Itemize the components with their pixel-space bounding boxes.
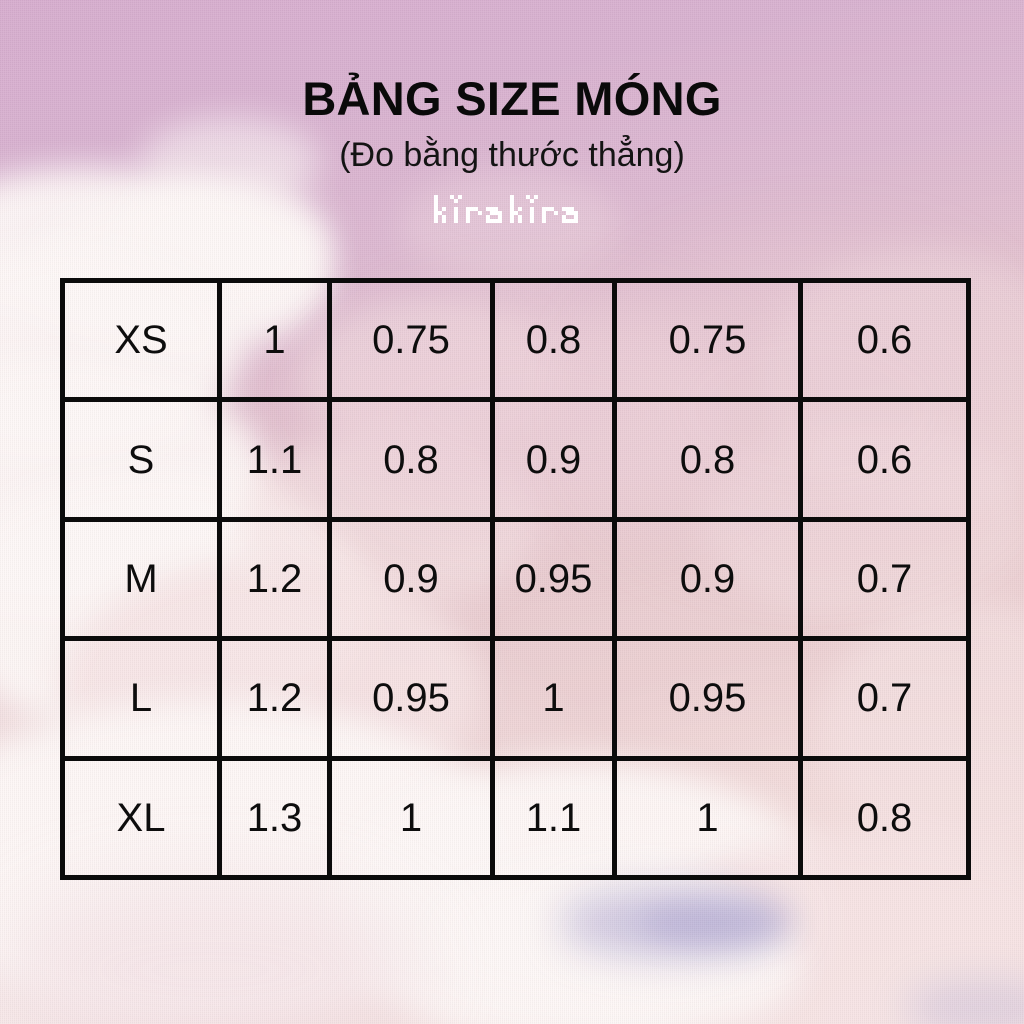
page-subtitle: (Đo bằng thước thẳng): [0, 137, 1024, 174]
measure-cell: 0.6: [801, 400, 969, 519]
size-label-cell: L: [63, 639, 220, 758]
measure-cell: 0.8: [801, 758, 969, 877]
table-row: XL 1.3 1 1.1 1 0.8: [63, 758, 969, 877]
measure-cell: 1: [493, 639, 615, 758]
measure-cell: 1.2: [220, 519, 330, 638]
size-label-cell: XL: [63, 758, 220, 877]
measure-cell: 0.75: [615, 281, 801, 400]
lavender-wisp: [640, 900, 790, 946]
measure-cell: 0.7: [801, 639, 969, 758]
measure-cell: 0.9: [330, 519, 493, 638]
measure-cell: 0.9: [493, 400, 615, 519]
size-label-cell: M: [63, 519, 220, 638]
nail-size-table: XS 1 0.75 0.8 0.75 0.6 S 1.1 0.8 0.9 0.8…: [60, 278, 971, 880]
table-row: M 1.2 0.9 0.95 0.9 0.7: [63, 519, 969, 638]
measure-cell: 1.1: [493, 758, 615, 877]
size-label-cell: XS: [63, 281, 220, 400]
header: BẢNG SIZE MÓNG (Đo bằng thước thẳng): [0, 0, 1024, 228]
measure-cell: 1: [330, 758, 493, 877]
measure-cell: 0.95: [493, 519, 615, 638]
measure-cell: 0.8: [615, 400, 801, 519]
measure-cell: 0.9: [615, 519, 801, 638]
table-row: L 1.2 0.95 1 0.95 0.7: [63, 639, 969, 758]
size-label-cell: S: [63, 400, 220, 519]
measure-cell: 0.95: [330, 639, 493, 758]
table-row: XS 1 0.75 0.8 0.75 0.6: [63, 281, 969, 400]
measure-cell: 0.95: [615, 639, 801, 758]
measure-cell: 0.7: [801, 519, 969, 638]
measure-cell: 0.8: [493, 281, 615, 400]
measure-cell: 1: [220, 281, 330, 400]
measure-cell: 0.75: [330, 281, 493, 400]
measure-cell: 1.2: [220, 639, 330, 758]
measure-cell: 1.1: [220, 400, 330, 519]
measure-cell: 0.6: [801, 281, 969, 400]
measure-cell: 0.8: [330, 400, 493, 519]
kirakira-brand-logo: [434, 195, 590, 223]
measure-cell: 1: [615, 758, 801, 877]
table-row: S 1.1 0.8 0.9 0.8 0.6: [63, 400, 969, 519]
table-body: XS 1 0.75 0.8 0.75 0.6 S 1.1 0.8 0.9 0.8…: [63, 281, 969, 878]
page-title: BẢNG SIZE MÓNG: [0, 74, 1024, 123]
measure-cell: 1.3: [220, 758, 330, 877]
